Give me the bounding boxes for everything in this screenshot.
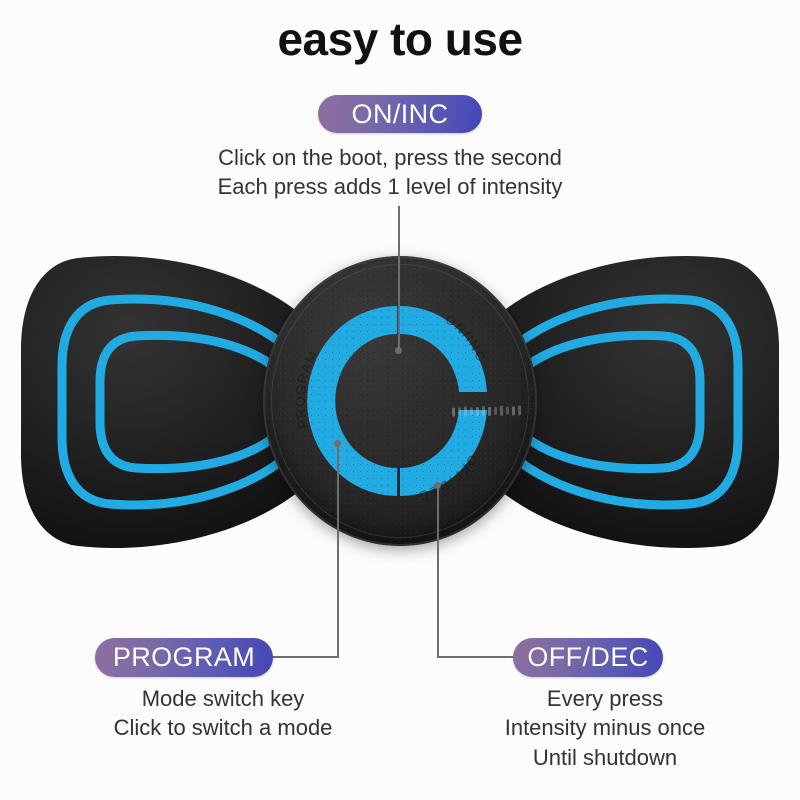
leader-dot-program — [334, 440, 341, 447]
control-disc: ON/INC PROGRAM OFF/DEC — [263, 256, 537, 546]
callout-badge-program[interactable]: PROGRAM — [95, 638, 273, 677]
disc-segment-program — [307, 306, 397, 496]
leader-line-program-vertical — [337, 443, 339, 658]
callout-text-line: Until shutdown — [470, 743, 740, 772]
leader-line-off-dec-horizontal — [437, 656, 515, 658]
led-indicator-row — [452, 405, 521, 416]
leader-line-on-inc — [398, 206, 400, 350]
callout-text-line: Each press adds 1 level of intensity — [200, 172, 580, 201]
leader-line-off-dec-vertical — [437, 485, 439, 658]
leader-dot-off-dec — [434, 482, 441, 489]
callout-badge-off-dec[interactable]: OFF/DEC — [513, 638, 663, 677]
leader-line-program-horizontal — [272, 656, 339, 658]
callout-text-program: Mode switch key Click to switch a mode — [78, 684, 368, 743]
callout-text-line: Intensity minus once — [470, 713, 740, 742]
callout-text-line: Click on the boot, press the second — [200, 143, 580, 172]
callout-text-line: Mode switch key — [78, 684, 368, 713]
callout-text-line: Click to switch a mode — [78, 713, 368, 742]
callout-badge-on-inc[interactable]: ON/INC — [318, 95, 482, 133]
infographic-stage: easy to use — [0, 0, 800, 800]
callout-text-off-dec: Every press Intensity minus once Until s… — [470, 684, 740, 772]
callout-text-on-inc: Click on the boot, press the second Each… — [200, 143, 580, 202]
leader-dot-on-inc — [395, 347, 402, 354]
callout-text-line: Every press — [470, 684, 740, 713]
